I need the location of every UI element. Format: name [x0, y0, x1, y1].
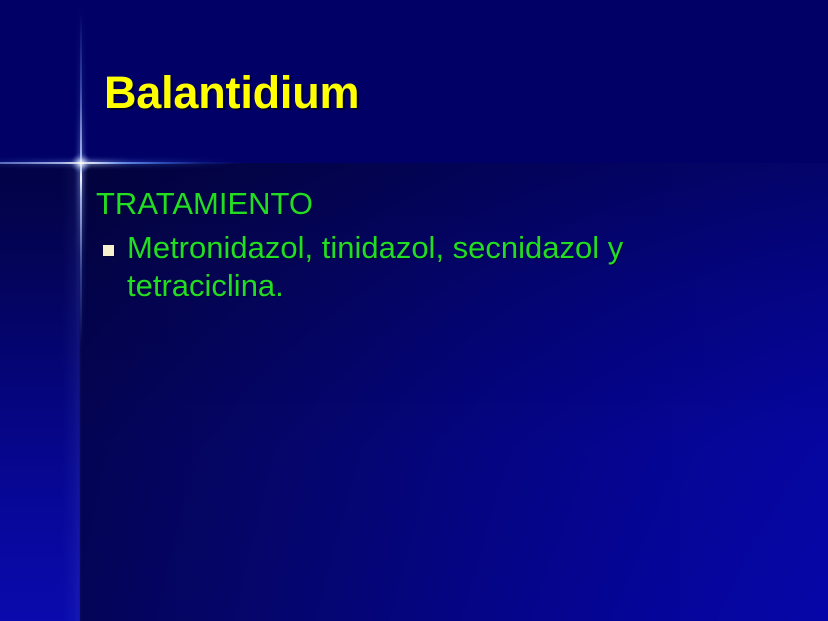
presentation-slide: Balantidium TRATAMIENTO Metronidazol, ti…: [0, 0, 828, 621]
bullet-list: Metronidazol, tinidazol, secnidazol y te…: [96, 229, 768, 307]
body-heading: TRATAMIENTO: [96, 186, 768, 223]
list-item-label: Metronidazol, tinidazol, secnidazol y te…: [127, 229, 768, 307]
slide-body: TRATAMIENTO Metronidazol, tinidazol, sec…: [96, 186, 768, 306]
list-item: Metronidazol, tinidazol, secnidazol y te…: [96, 229, 768, 307]
slide-left-band-edge-glow: [62, 163, 82, 621]
slide-title: Balantidium: [104, 67, 359, 119]
square-bullet-icon: [103, 245, 114, 256]
